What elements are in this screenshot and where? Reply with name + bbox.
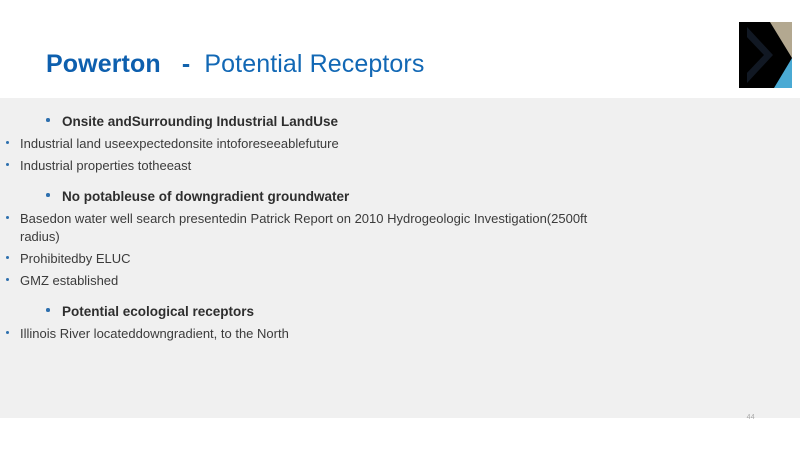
bullet-dot-icon (46, 193, 50, 197)
bullet-dot-icon (46, 308, 50, 312)
logo-tan-wedge (770, 22, 792, 58)
bullet-level2: GMZ established (0, 272, 800, 290)
slide: Powerton - Potential Receptors Onsite an… (0, 0, 800, 450)
sub-bullet-list: Illinois River locateddowngradient, to t… (0, 325, 800, 343)
page-title-subject: Powerton (46, 50, 161, 78)
sub-bullet-dot-icon (6, 256, 9, 259)
sub-bullet-dot-icon (6, 163, 9, 166)
bullet-level2: Basedon water well search presentedin Pa… (0, 210, 590, 246)
bullet-level2-label: Industrial land useexpectedonsite intofo… (20, 136, 339, 151)
bullet-group: Potential ecological receptors Illinois … (0, 302, 800, 343)
content-panel: Onsite andSurrounding Industrial LandUse… (0, 98, 800, 418)
bullet-level2: Industrial properties totheeast (0, 157, 800, 175)
bullet-group: Onsite andSurrounding Industrial LandUse… (0, 112, 800, 175)
company-logo-icon (739, 22, 792, 88)
sub-bullet-dot-icon (6, 331, 9, 334)
sub-bullet-list: Industrial land useexpectedonsite intofo… (0, 135, 800, 175)
bullet-dot-icon (46, 118, 50, 122)
page-title: Powerton - Potential Receptors (46, 48, 424, 80)
bullet-level2: Illinois River locateddowngradient, to t… (0, 325, 800, 343)
bullet-level2-label: Prohibitedby ELUC (20, 251, 131, 266)
sub-bullet-dot-icon (6, 141, 9, 144)
bullet-level2: Industrial land useexpectedonsite intofo… (0, 135, 800, 153)
bullet-level2-label: Industrial properties totheeast (20, 158, 191, 173)
bullet-level1-label: No potableuse of downgradient groundwate… (62, 189, 349, 204)
bullet-group: No potableuse of downgradient groundwate… (0, 187, 800, 290)
sub-bullet-dot-icon (6, 278, 9, 281)
sub-bullet-dot-icon (6, 216, 9, 219)
bullet-list: Onsite andSurrounding Industrial LandUse… (0, 112, 800, 343)
bullet-level2-label: Basedon water well search presentedin Pa… (20, 211, 587, 244)
title-bar: Powerton - Potential Receptors (0, 0, 800, 98)
page-number: 44 (747, 414, 755, 421)
bullet-level1-label: Onsite andSurrounding Industrial LandUse (62, 114, 338, 129)
bullet-level1: Potential ecological receptors (0, 302, 800, 321)
slide-footer: 44 (0, 418, 800, 450)
bullet-level2: Prohibitedby ELUC (0, 250, 800, 268)
logo-chevron-inner (745, 35, 764, 75)
bullet-level1-label: Potential ecological receptors (62, 304, 254, 319)
bullet-level1: No potableuse of downgradient groundwate… (0, 187, 800, 206)
bullet-level1: Onsite andSurrounding Industrial LandUse (0, 112, 800, 131)
bullet-level2-label: GMZ established (20, 273, 118, 288)
sub-bullet-list: Basedon water well search presentedin Pa… (0, 210, 800, 290)
bullet-level2-label: Illinois River locateddowngradient, to t… (20, 326, 289, 341)
page-title-topic: Potential Receptors (204, 50, 424, 78)
logo-blue-wedge (774, 58, 792, 88)
